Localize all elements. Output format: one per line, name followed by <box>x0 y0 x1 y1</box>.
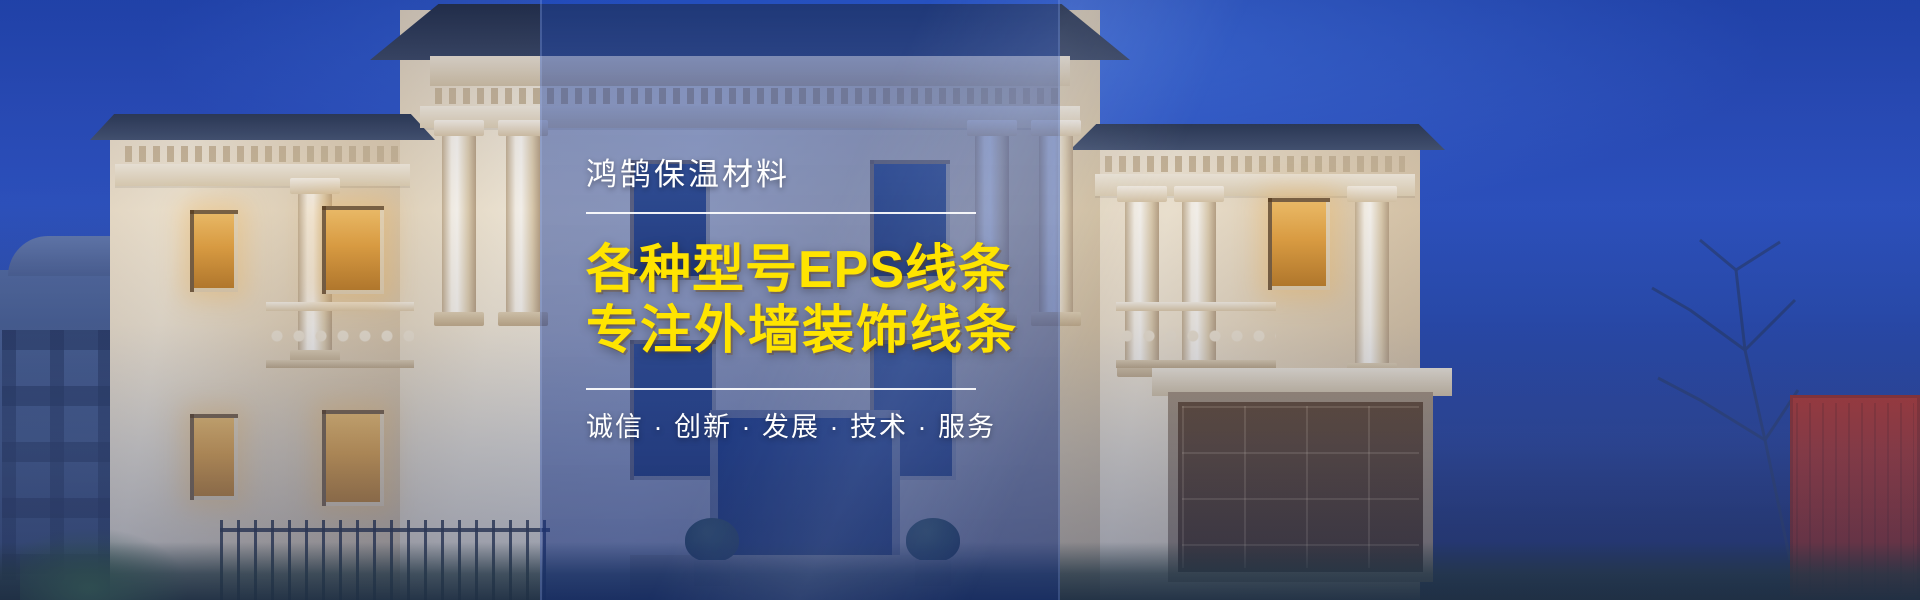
column <box>442 134 476 314</box>
column <box>506 134 540 314</box>
entablature-left <box>115 164 410 186</box>
overlay-edge-right <box>1058 0 1060 600</box>
divider-bottom <box>586 388 976 390</box>
headline-line-1: 各种型号EPS线条 <box>586 240 1026 301</box>
banner-content: 鸿鹄保温材料 各种型号EPS线条 专注外墙装饰线条 诚信 · 创新 · 发展 ·… <box>586 0 1026 600</box>
cornice-dentils-left <box>125 146 400 162</box>
brand-name: 鸿鹄保温材料 <box>586 159 1026 190</box>
divider-top <box>586 212 976 214</box>
cornice-dentils-right <box>1105 156 1405 172</box>
lit-window <box>322 206 384 294</box>
left-roof <box>90 114 435 140</box>
hero-banner: 鸿鹄保温材料 各种型号EPS线条 专注外墙装饰线条 诚信 · 创新 · 发展 ·… <box>0 0 1920 600</box>
headline: 各种型号EPS线条 专注外墙装饰线条 <box>586 240 1026 363</box>
lit-window <box>190 210 238 292</box>
right-roof <box>1070 124 1445 150</box>
tagline: 诚信 · 创新 · 发展 · 技术 · 服务 <box>586 414 1026 441</box>
headline-line-2: 专注外墙装饰线条 <box>586 301 1026 362</box>
overlay-edge-left <box>540 0 542 600</box>
lit-window <box>1268 198 1330 290</box>
